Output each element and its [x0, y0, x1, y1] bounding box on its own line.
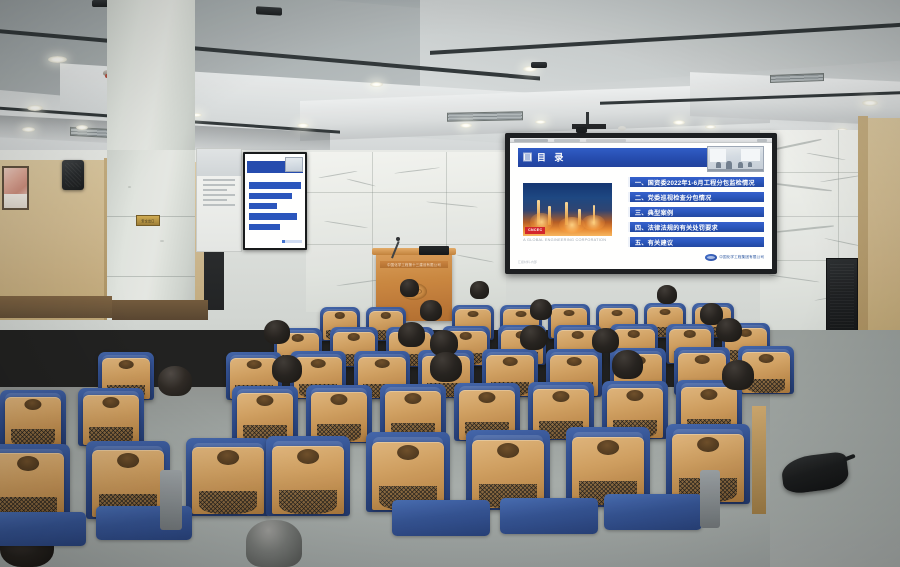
attendee-a1: [400, 279, 419, 297]
company-logo-text: 中国化学工程集团有限公司: [719, 255, 764, 260]
exit-plaque: 安全出口: [136, 215, 160, 226]
attendee-a2: [470, 281, 489, 299]
downlight-1: [48, 56, 67, 63]
seat-e3[interactable]: [266, 436, 350, 516]
secondary-toc-5: [249, 224, 280, 231]
wall-panel-tan-right: [866, 118, 900, 330]
podium-banner: 中国化学工程第十三建设有限公司: [380, 261, 448, 268]
notice-line-4: [203, 194, 235, 196]
downlight-4: [22, 127, 35, 132]
attendee-a3: [657, 285, 677, 304]
display-content-area: 目 录: [510, 138, 772, 269]
seat-d3[interactable]: [306, 385, 372, 443]
attendee-b1: [420, 300, 442, 321]
slide-company-logo: 中国化学工程集团有限公司: [705, 254, 764, 261]
video-conference-thumbnail: [707, 146, 765, 172]
seat-e2[interactable]: [186, 438, 270, 516]
downlight-8: [297, 123, 309, 128]
secondary-display-screen[interactable]: [243, 152, 307, 250]
toc-item-5: 五、有关建议: [628, 237, 764, 247]
attendee-c2: [264, 320, 290, 344]
seat-e0[interactable]: [0, 444, 70, 522]
downlight-15: [862, 100, 878, 106]
column-speck-2: [160, 240, 164, 242]
structural-column-upper: [107, 0, 195, 174]
secondary-slide-thumbnail: [285, 157, 303, 172]
seat-support-leg-1: [160, 470, 182, 530]
exit-plaque-text: 安全出口: [137, 219, 159, 223]
downlight-10: [460, 123, 472, 128]
seat-d1[interactable]: [78, 388, 144, 446]
attendee-c3: [398, 322, 425, 347]
column-speck-1: [128, 186, 131, 188]
hvac-vent-center: [447, 111, 523, 122]
toc-item-2: 二、党委巡视检查分包情况: [628, 192, 764, 202]
main-display-screen[interactable]: 目 录: [505, 133, 777, 274]
contents-icon: [523, 153, 532, 162]
podium-monitor: [419, 246, 449, 255]
slide-photo-caption: A GLOBAL ENGINEERING CORPORATION: [523, 238, 628, 242]
attendee-d2: [430, 352, 462, 382]
cncec-badge: CNCEC: [525, 227, 545, 234]
downlight-9: [370, 82, 383, 87]
attendee-c1: [158, 366, 192, 396]
wall-artwork: [2, 166, 29, 210]
secondary-toc-3: [249, 203, 278, 210]
floor-speaker-right: [826, 258, 858, 336]
seat-d0[interactable]: [0, 390, 66, 448]
row-end-panel-right: [752, 406, 766, 514]
secondary-display-content: [245, 154, 305, 248]
attendee-c7: [716, 318, 742, 342]
wall-pilaster-right: [858, 116, 868, 330]
seat-support-leg-2: [700, 470, 720, 528]
notice-header: [197, 149, 241, 176]
downlight-12: [535, 120, 546, 124]
notice-line-5: [203, 199, 227, 201]
attendee-e1: [246, 520, 302, 567]
artwork-lower-band: [4, 194, 27, 208]
downlight-2: [27, 105, 43, 111]
seat-cushion-e6: [604, 494, 702, 530]
structural-column: [107, 150, 195, 320]
downlight-13: [673, 120, 685, 125]
downlight-5: [76, 125, 88, 130]
ceiling-speaker-3: [531, 62, 547, 68]
attendee-d4: [722, 360, 754, 390]
downlight-14: [705, 125, 716, 129]
secondary-toc-4: [249, 213, 297, 220]
seat-cushion-e0: [0, 512, 86, 546]
seat-cushion-e4: [392, 500, 490, 536]
attendee-d1: [272, 355, 302, 383]
notice-line-1: [203, 179, 235, 181]
ceiling-sensor: [618, 126, 626, 131]
attendee-d3: [612, 350, 643, 379]
conference-hall-photo: 安全出口: [0, 0, 900, 567]
bench-left-2: [112, 300, 208, 320]
toc-item-4: 四、法律法规的有关处罚要求: [628, 222, 764, 232]
secondary-toc-1: [249, 182, 302, 189]
podium-banner-text: 中国化学工程第十三建设有限公司: [387, 262, 441, 267]
secondary-slide-logo: [282, 240, 302, 244]
bench-left: [0, 296, 112, 318]
presentation-slide: 目 录: [510, 143, 772, 269]
notice-line-6: [203, 204, 235, 206]
ceiling-speaker-2: [256, 6, 282, 15]
seat-cushion-e5: [500, 498, 598, 534]
slide-photo-plant: CNCEC: [523, 183, 612, 236]
secondary-toc-2: [249, 193, 292, 200]
slide-contents-list: 一、国资委2022年1-6月工程分包监检情况 二、党委巡视检查分包情况 三、典型…: [628, 177, 764, 252]
attendee-c5: [520, 325, 547, 350]
toc-item-1: 一、国资委2022年1-6月工程分包监检情况: [628, 177, 764, 187]
notice-board: [196, 148, 242, 252]
slide-title: 目 录: [537, 151, 567, 164]
column-seam-2: [107, 276, 195, 277]
notice-line-3: [203, 189, 227, 191]
notice-line-2: [203, 184, 235, 186]
attendee-b2: [530, 299, 552, 320]
toc-item-3: 三、典型案例: [628, 207, 764, 217]
microphone-head: [396, 237, 400, 241]
wall-speaker-left: [62, 160, 84, 190]
slide-footer-note: 汇报材料-内部: [518, 260, 537, 264]
company-logo-mark: [705, 254, 717, 261]
